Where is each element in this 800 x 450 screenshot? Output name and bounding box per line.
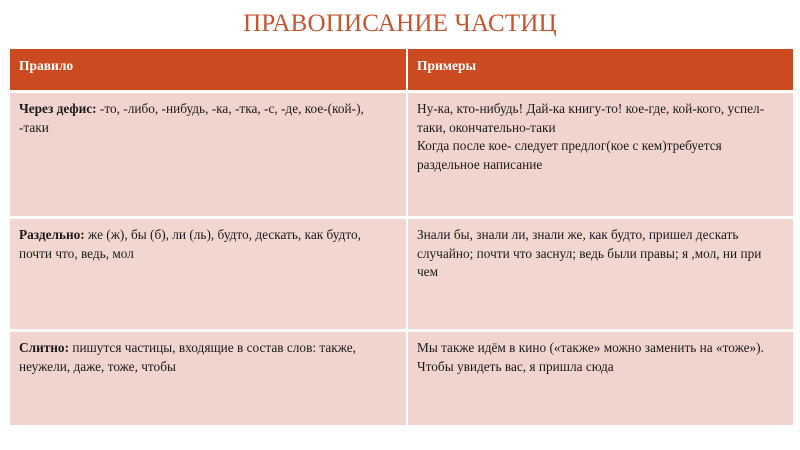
example-line: Знали бы, знали ли, знали же, как будто,… (417, 226, 784, 282)
example-line: Ну-ка, кто-нибудь! Дай-ка книгу-то! кое-… (417, 100, 784, 137)
example-line: Мы также идём в кино («также» можно заме… (417, 339, 784, 376)
page-title: ПРАВОПИСАНИЕ ЧАСТИЦ (0, 9, 800, 39)
examples-cell: Мы также идём в кино («также» можно заме… (408, 332, 793, 425)
rule-lead-label: Через дефис: (19, 101, 97, 116)
rule-cell: Слитно: пишутся частицы, входящие в сост… (10, 332, 406, 425)
examples-cell: Знали бы, знали ли, знали же, как будто,… (408, 219, 793, 329)
table-row: Через дефис: -то, -либо, -нибудь, -ка, -… (10, 93, 793, 216)
column-header-rule: Правило (10, 49, 406, 90)
table-body: Через дефис: -то, -либо, -нибудь, -ка, -… (10, 93, 793, 425)
table-header-row: Правило Примеры (10, 49, 793, 90)
rule-text: пишутся частицы, входящие в состав слов:… (19, 340, 356, 374)
rule-lead-label: Раздельно: (19, 227, 85, 242)
rules-table: Правило Примеры Через дефис: -то, -либо,… (8, 46, 795, 428)
example-line: Когда после кое- следует предлог(кое с к… (417, 137, 784, 174)
examples-cell: Ну-ка, кто-нибудь! Дай-ка книгу-то! кое-… (408, 93, 793, 216)
rules-table-container: Правило Примеры Через дефис: -то, -либо,… (8, 46, 791, 438)
table-row: Слитно: пишутся частицы, входящие в сост… (10, 332, 793, 425)
rule-lead-label: Слитно: (19, 340, 69, 355)
rule-cell: Через дефис: -то, -либо, -нибудь, -ка, -… (10, 93, 406, 216)
table-row: Раздельно: же (ж), бы (б), ли (ль), будт… (10, 219, 793, 329)
column-header-examples: Примеры (408, 49, 793, 90)
table-header: Правило Примеры (10, 49, 793, 90)
rule-cell: Раздельно: же (ж), бы (б), ли (ль), будт… (10, 219, 406, 329)
slide: ПРАВОПИСАНИЕ ЧАСТИЦ Правило Примеры Чере… (0, 0, 800, 450)
